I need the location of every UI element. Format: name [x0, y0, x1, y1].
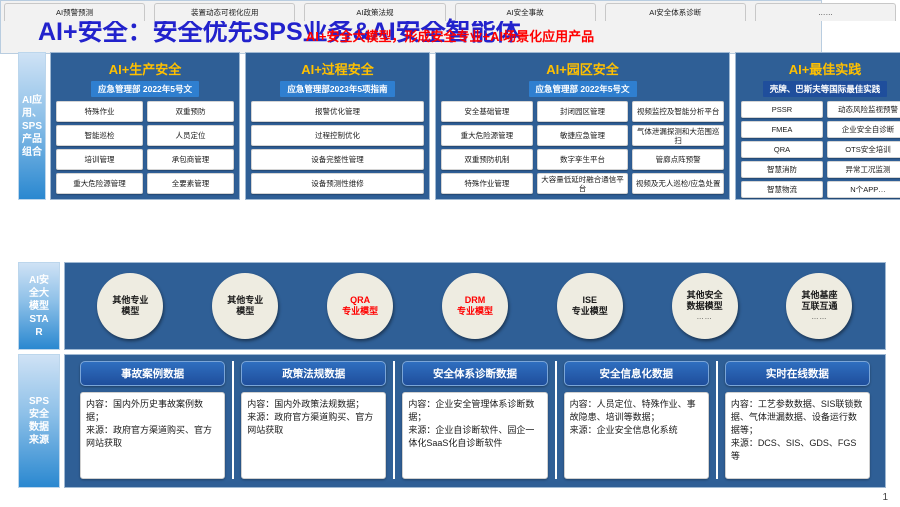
chip-column: 封闭园区管理 敏捷应急管理 数字孪生平台 大容量低延时融合通信平台: [537, 101, 629, 194]
chip-column: 双重预防 人员定位 承包商管理 全要素管理: [147, 101, 234, 194]
tab-more[interactable]: ……: [755, 3, 896, 21]
model-circle-line2: 模型: [121, 306, 139, 317]
chip-item[interactable]: 安全基础管理: [441, 101, 533, 122]
chip-item[interactable]: 双重预防: [147, 101, 234, 122]
panel-subtitle: 应急管理部 2022年5号文: [91, 81, 199, 97]
chip-item[interactable]: 视频监控及智能分析平台: [632, 101, 724, 122]
tab-ai-warning-prediction[interactable]: AI预警预测: [4, 3, 145, 21]
chip-grid: PSSR FMEA QRA 智慧消防 智慧物流 动态风险监视预警 企业安全自诊断…: [741, 101, 900, 198]
chip-column: 视频监控及智能分析平台 气体泄漏探测和大范围巡扫 管廊点阵预警 视频及无人巡检/…: [632, 101, 724, 194]
chip-item[interactable]: 视频及无人巡检/应急处置: [632, 173, 724, 194]
model-circle-line2: 数据模型: [687, 301, 723, 312]
slide-root: AI+安全：安全优先SPS业务&AI安全智能体 AI应用、SPS产品组合 AI+…: [0, 0, 900, 507]
model-circle-line1: 其他专业: [227, 295, 263, 306]
chip-item[interactable]: 全要素管理: [147, 173, 234, 194]
data-card-safety-informatization[interactable]: 安全信息化数据 内容：人员定位、特殊作业、事故隐患、培训等数据； 来源：企业安全…: [555, 361, 716, 479]
data-source-cards: 事故案例数据 内容：国内外历史事故案例数据； 来源：政府官方渠道购买、官方网站获…: [64, 354, 886, 488]
chip-column: 报警优化管理 过程控制优化 设备完整性管理 设备预测性维修: [251, 101, 424, 194]
data-card-accident-cases[interactable]: 事故案例数据 内容：国内外历史事故案例数据； 来源：政府官方渠道购买、官方网站获…: [73, 361, 232, 479]
sidebar-label-applications: AI应用、SPS产品组合: [18, 52, 46, 200]
model-circle-dots: ……: [811, 312, 827, 323]
model-circle-qra[interactable]: QRA 专业模型: [327, 273, 393, 339]
tabstrip: AI预警预测 装置动态可视化应用 AI政策法规 AI安全事故 AI安全体系诊断 …: [4, 3, 896, 21]
page-number: 1: [882, 492, 888, 503]
chip-item[interactable]: 大容量低延时融合通信平台: [537, 173, 629, 194]
data-card-title: 实时在线数据: [725, 361, 870, 386]
chip-item[interactable]: 气体泄漏探测和大范围巡扫: [632, 125, 724, 146]
chip-item[interactable]: 数字孪生平台: [537, 149, 629, 170]
chip-item[interactable]: 封闭园区管理: [537, 101, 629, 122]
chip-item[interactable]: 培训管理: [56, 149, 143, 170]
model-circle-line1: DRM: [465, 295, 486, 306]
chip-grid: 报警优化管理 过程控制优化 设备完整性管理 设备预测性维修: [251, 101, 424, 194]
data-card-body: 内容：人员定位、特殊作业、事故隐患、培训等数据； 来源：企业安全信息化系统: [564, 392, 709, 479]
panel-subtitle: 壳牌、巴斯夫等国际最佳实践: [763, 81, 888, 97]
panel-subtitle: 应急管理部 2022年5号文: [529, 81, 637, 97]
applications-band: AI应用、SPS产品组合 AI+生产安全 应急管理部 2022年5号文 特殊作业…: [18, 52, 886, 200]
chip-item[interactable]: 智慧物流: [741, 181, 823, 198]
chip-item[interactable]: OTS安全培训: [827, 141, 900, 158]
sidebar-applications-text: AI应用、SPS产品组合: [19, 94, 45, 159]
model-circle-row: 其他专业 模型 其他专业 模型 QRA 专业模型 DRM 专业模型 ISE: [64, 262, 886, 350]
chip-item[interactable]: 企业安全自诊断: [827, 121, 900, 138]
tab-ai-safety-accident[interactable]: AI安全事故: [455, 3, 596, 21]
tab-ai-safety-system-diagnosis[interactable]: AI安全体系诊断: [605, 3, 746, 21]
chip-item[interactable]: 特殊作业: [56, 101, 143, 122]
data-sources-band: SPS安全数据来源 事故案例数据 内容：国内外历史事故案例数据； 来源：政府官方…: [18, 354, 886, 488]
chip-grid: 安全基础管理 重大危险源管理 双重预防机制 特殊作业管理 封闭园区管理 敏捷应急…: [441, 101, 724, 194]
chip-item[interactable]: 重大危险源管理: [56, 173, 143, 194]
sidebar-models-text: AI安全大模型STAR: [26, 274, 52, 339]
data-card-body: 内容：国内外历史事故案例数据； 来源：政府官方渠道购买、官方网站获取: [80, 392, 225, 479]
chip-item[interactable]: 双重预防机制: [441, 149, 533, 170]
data-card-title: 安全信息化数据: [564, 361, 709, 386]
chip-item[interactable]: 异常工况监测: [827, 161, 900, 178]
model-circle-line2: 专业模型: [457, 306, 493, 317]
sidebar-label-data: SPS安全数据来源: [18, 354, 60, 488]
panel-title: AI+过程安全: [301, 59, 374, 78]
data-card-body: 内容：工艺参数数据、SIS联锁数据、气体泄漏数据、设备运行数据等； 来源：DCS…: [725, 392, 870, 479]
chip-column: PSSR FMEA QRA 智慧消防 智慧物流: [741, 101, 823, 198]
data-card-system-diagnosis[interactable]: 安全体系诊断数据 内容：企业安全管理体系诊断数据； 来源：企业自诊断软件、园企一…: [393, 361, 554, 479]
chip-item[interactable]: 报警优化管理: [251, 101, 424, 122]
models-band: AI安全大模型STAR 其他专业 模型 其他专业 模型 QRA 专业模型 DRM…: [18, 262, 886, 350]
chip-item[interactable]: 重大危险源管理: [441, 125, 533, 146]
chip-item[interactable]: 设备完整性管理: [251, 149, 424, 170]
sidebar-data-text: SPS安全数据来源: [26, 395, 52, 447]
panel-title: AI+最佳实践: [789, 59, 862, 78]
tab-ai-policy-regulation[interactable]: AI政策法规: [304, 3, 445, 21]
panel-title: AI+园区安全: [546, 59, 619, 78]
chip-column: 动态风险监视预警 企业安全自诊断 OTS安全培训 异常工况监测 N个APP…: [827, 101, 900, 198]
chip-column: 安全基础管理 重大危险源管理 双重预防机制 特殊作业管理: [441, 101, 533, 194]
chip-item[interactable]: 管廊点阵预警: [632, 149, 724, 170]
chip-item[interactable]: FMEA: [741, 121, 823, 138]
model-circle[interactable]: 其他安全 数据模型 ……: [672, 273, 738, 339]
sidebar-label-models: AI安全大模型STAR: [18, 262, 60, 350]
chip-item[interactable]: 智能巡检: [56, 125, 143, 146]
model-circle-drm[interactable]: DRM 专业模型: [442, 273, 508, 339]
model-circle-line1: 其他专业: [112, 295, 148, 306]
panel-title: AI+生产安全: [109, 59, 182, 78]
chip-item[interactable]: N个APP…: [827, 181, 900, 198]
chip-item[interactable]: 智慧消防: [741, 161, 823, 178]
model-circle[interactable]: 其他专业 模型: [212, 273, 278, 339]
chip-column: 特殊作业 智能巡检 培训管理 重大危险源管理: [56, 101, 143, 194]
data-card-title: 政策法规数据: [241, 361, 386, 386]
data-card-title: 安全体系诊断数据: [402, 361, 547, 386]
model-circle[interactable]: 其他基座 互联互通 ……: [786, 273, 852, 339]
data-card-body: 内容：企业安全管理体系诊断数据； 来源：企业自诊断软件、园企一体化SaaS化自诊…: [402, 392, 547, 479]
data-card-realtime-online[interactable]: 实时在线数据 内容：工艺参数数据、SIS联锁数据、气体泄漏数据、设备运行数据等；…: [716, 361, 877, 479]
chip-item[interactable]: 人员定位: [147, 125, 234, 146]
data-card-body: 内容：国内外政策法规数据； 来源：政府官方渠道购买、官方网站获取: [241, 392, 386, 479]
chip-item[interactable]: 敏捷应急管理: [537, 125, 629, 146]
chip-item[interactable]: 承包商管理: [147, 149, 234, 170]
chip-item[interactable]: 设备预测性维修: [251, 173, 424, 194]
data-card-policy-regulation[interactable]: 政策法规数据 内容：国内外政策法规数据； 来源：政府官方渠道购买、官方网站获取: [232, 361, 393, 479]
product-panels: AI+生产安全 应急管理部 2022年5号文 特殊作业 智能巡检 培训管理 重大…: [50, 52, 900, 200]
model-circle-dots: ……: [697, 312, 713, 323]
model-circle-line1: QRA: [350, 295, 370, 306]
model-circle-line2: 专业模型: [342, 306, 378, 317]
chip-item[interactable]: QRA: [741, 141, 823, 158]
panel-subtitle: 应急管理部2023年5项指南: [280, 81, 394, 97]
model-circle-line1: ISE: [583, 295, 598, 306]
chip-item[interactable]: 过程控制优化: [251, 125, 424, 146]
model-circle[interactable]: 其他专业 模型: [97, 273, 163, 339]
chip-item[interactable]: 动态风险监视预警: [827, 101, 900, 118]
big-model-statement: AI+安全大模型，形成安全专业+AI场景化应用产品: [0, 26, 900, 45]
panel-process-safety[interactable]: AI+过程安全 应急管理部2023年5项指南 报警优化管理 过程控制优化 设备完…: [245, 52, 430, 200]
model-circle-line1: 其他安全: [687, 290, 723, 301]
model-circle-line2: 互联互通: [801, 301, 837, 312]
model-circle-line2: 模型: [236, 306, 254, 317]
panel-production-safety[interactable]: AI+生产安全 应急管理部 2022年5号文 特殊作业 智能巡检 培训管理 重大…: [50, 52, 240, 200]
chip-item[interactable]: PSSR: [741, 101, 823, 118]
model-circle-ise[interactable]: ISE 专业模型: [557, 273, 623, 339]
chip-item[interactable]: 特殊作业管理: [441, 173, 533, 194]
tab-device-dynamic-visualization[interactable]: 装置动态可视化应用: [154, 3, 295, 21]
model-circle-line1: 其他基座: [801, 290, 837, 301]
chip-grid: 特殊作业 智能巡检 培训管理 重大危险源管理 双重预防 人员定位 承包商管理 全…: [56, 101, 234, 194]
model-circle-line2: 专业模型: [572, 306, 608, 317]
panel-best-practice[interactable]: AI+最佳实践 壳牌、巴斯夫等国际最佳实践 PSSR FMEA QRA 智慧消防…: [735, 52, 900, 200]
panel-park-safety[interactable]: AI+园区安全 应急管理部 2022年5号文 安全基础管理 重大危险源管理 双重…: [435, 52, 730, 200]
data-card-title: 事故案例数据: [80, 361, 225, 386]
